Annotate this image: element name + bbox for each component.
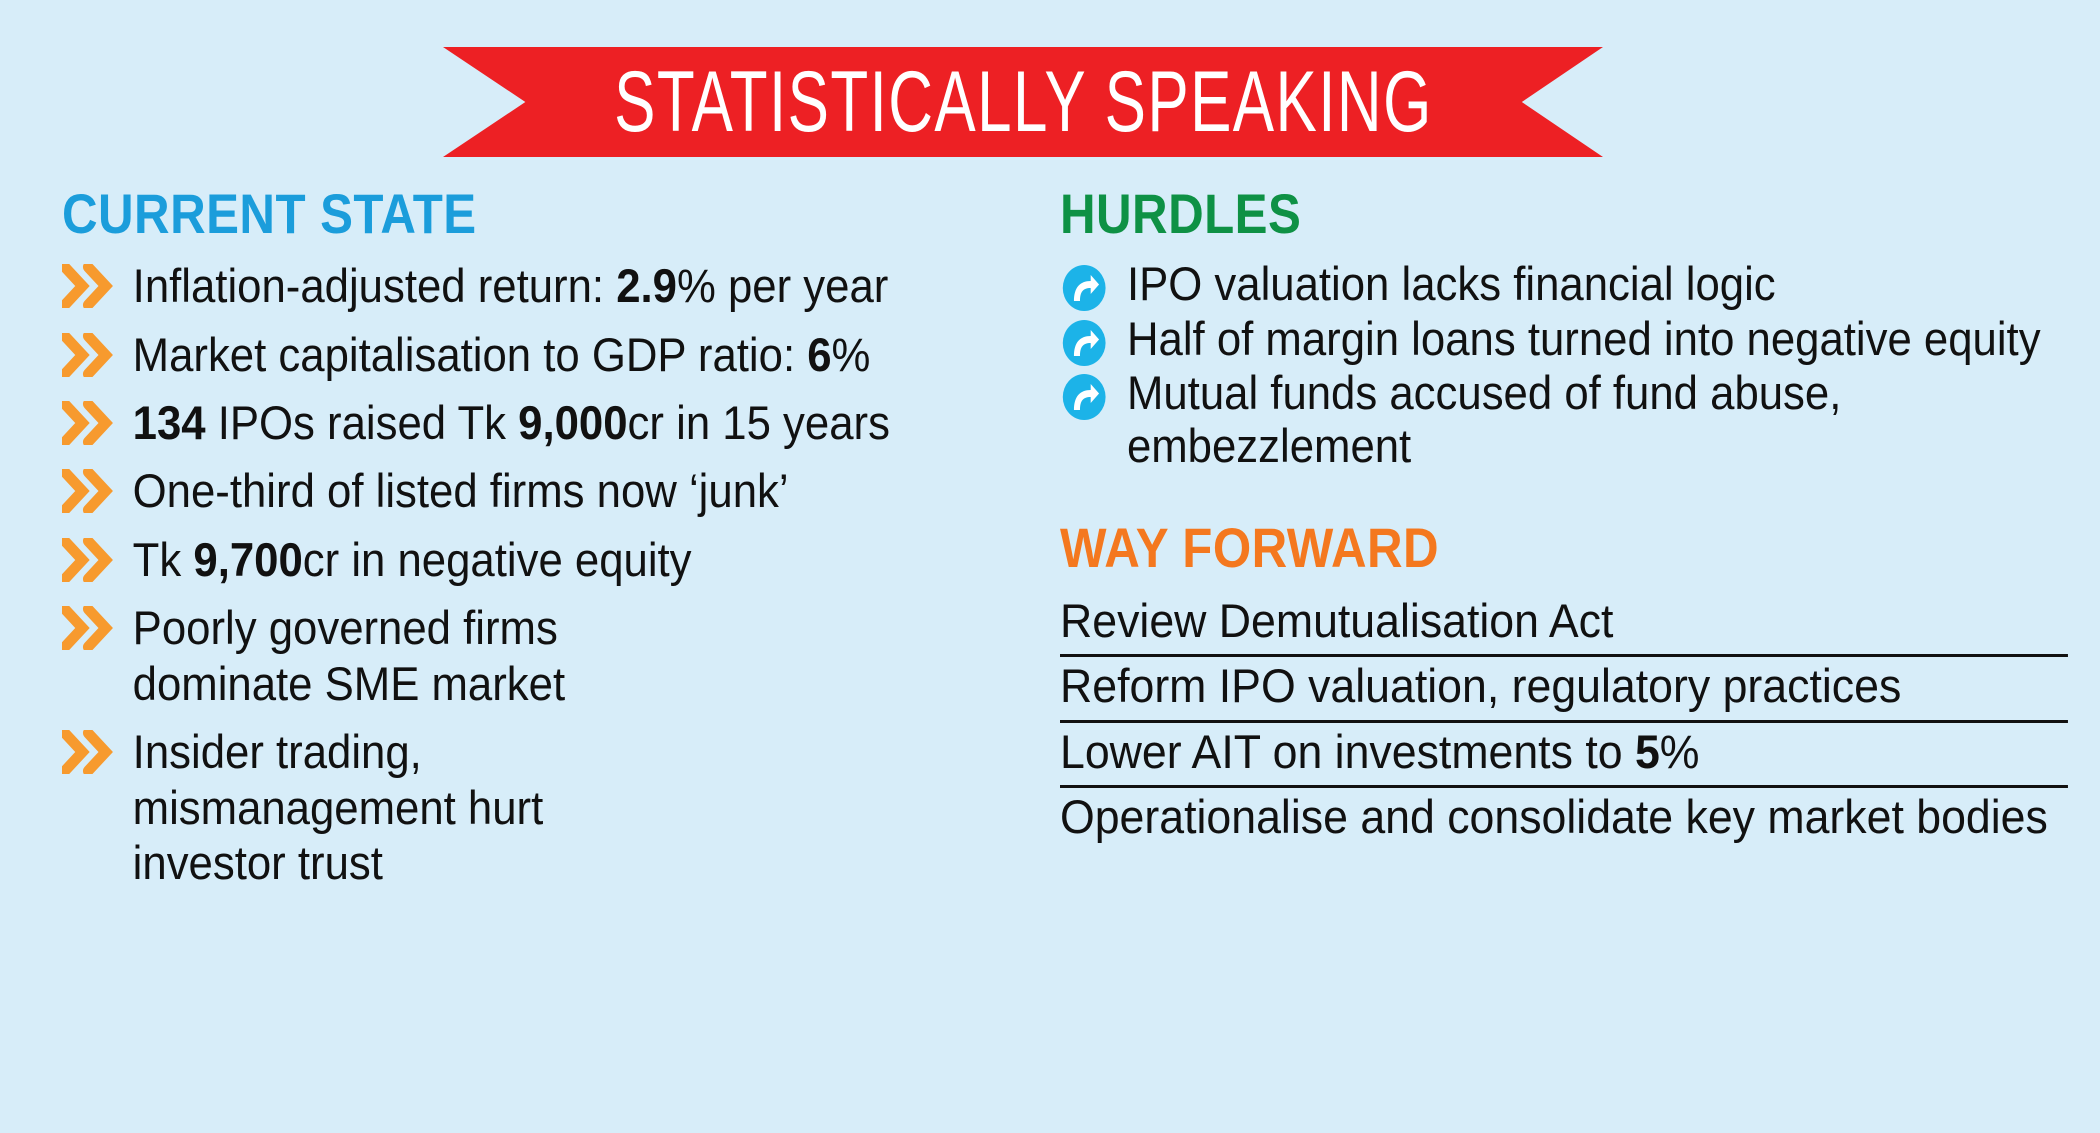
list-item-text: Half of margin loans turned into negativ… (1127, 312, 2041, 365)
list-item: Market capitalisation to GDP ratio: 6% (62, 327, 1097, 382)
list-item-text: Operationalise and consolidate key marke… (1060, 790, 2048, 843)
content-columns: CURRENT STATE Inflation-adjusted return:… (0, 185, 2100, 1133)
heading-hurdles: HURDLES (1060, 185, 1931, 242)
list-item: Lower AIT on investments to 5% (1060, 723, 2067, 789)
list-item-text: Mutual funds accused of fund abuse, embe… (1127, 366, 1841, 472)
list-item-text: Inflation-adjusted return: 2.9% per year (133, 259, 889, 312)
list-item-text: IPO valuation lacks financial logic (1127, 257, 1776, 310)
double-chevron-right-icon (62, 401, 120, 445)
heading-way-forward: WAY FORWARD (1060, 519, 1931, 576)
double-chevron-right-icon (62, 538, 120, 582)
banner-ribbon: STATISTICALLY SPEAKING (443, 47, 1603, 157)
list-item-text: Tk 9,700cr in negative equity (133, 533, 692, 586)
list-item: Review Demutualisation Act (1060, 592, 2067, 658)
list-item-text: 134 IPOs raised Tk 9,000cr in 15 years (133, 396, 890, 449)
list-item-text: Lower AIT on investments to 5% (1060, 725, 1699, 778)
list-item-text: Reform IPO valuation, regulatory practic… (1060, 659, 1901, 712)
list-item: IPO valuation lacks financial logic (1060, 258, 2100, 311)
list-item: Inflation-adjusted return: 2.9% per year (62, 258, 1097, 313)
column-hurdles-way-forward: HURDLES IPO valuation lacks financial lo… (1060, 185, 2050, 851)
banner: STATISTICALLY SPEAKING (443, 47, 1603, 157)
list-item: Tk 9,700cr in negative equity (62, 532, 1097, 587)
list-item: Poorly governed firms dominate SME marke… (62, 600, 691, 711)
column-current-state: CURRENT STATE Inflation-adjusted return:… (62, 185, 1022, 904)
heading-current-state: CURRENT STATE (62, 185, 907, 242)
list-item-text: Market capitalisation to GDP ratio: 6% (133, 328, 871, 381)
list-item: Reform IPO valuation, regulatory practic… (1060, 657, 2067, 723)
double-chevron-right-icon (62, 469, 120, 513)
circular-arrow-up-right-icon (1062, 264, 1107, 312)
list-item: One-third of listed firms now ‘junk’ (62, 463, 1097, 518)
double-chevron-right-icon (62, 264, 120, 308)
list-item-text: One-third of listed firms now ‘junk’ (133, 464, 789, 517)
list-item: Insider trading, mismanagement hurt inve… (62, 724, 691, 890)
double-chevron-right-icon (62, 333, 120, 377)
list-item: Operationalise and consolidate key marke… (1060, 788, 2067, 851)
list-item-text: Review Demutualisation Act (1060, 594, 1613, 647)
way-forward-list: Review Demutualisation Act Reform IPO va… (1060, 592, 2070, 851)
list-item: 134 IPOs raised Tk 9,000cr in 15 years (62, 395, 1097, 450)
list-item: Mutual funds accused of fund abuse, embe… (1060, 367, 2076, 472)
list-item-text: Poorly governed firms dominate SME marke… (133, 601, 565, 709)
infographic-root: STATISTICALLY SPEAKING CURRENT STATE Inf… (0, 0, 2100, 1133)
list-item-text: Insider trading, mismanagement hurt inve… (133, 725, 544, 889)
list-item: Half of margin loans turned into negativ… (1060, 313, 2076, 366)
double-chevron-right-icon (62, 606, 120, 650)
hurdles-list: IPO valuation lacks financial logic Half… (1060, 258, 2050, 473)
double-chevron-right-icon (62, 730, 120, 774)
circular-arrow-up-right-icon (1062, 373, 1107, 421)
page-title: STATISTICALLY SPEAKING (614, 59, 1433, 145)
circular-arrow-up-right-icon (1062, 319, 1107, 367)
current-state-list: Inflation-adjusted return: 2.9% per year… (62, 258, 1022, 891)
